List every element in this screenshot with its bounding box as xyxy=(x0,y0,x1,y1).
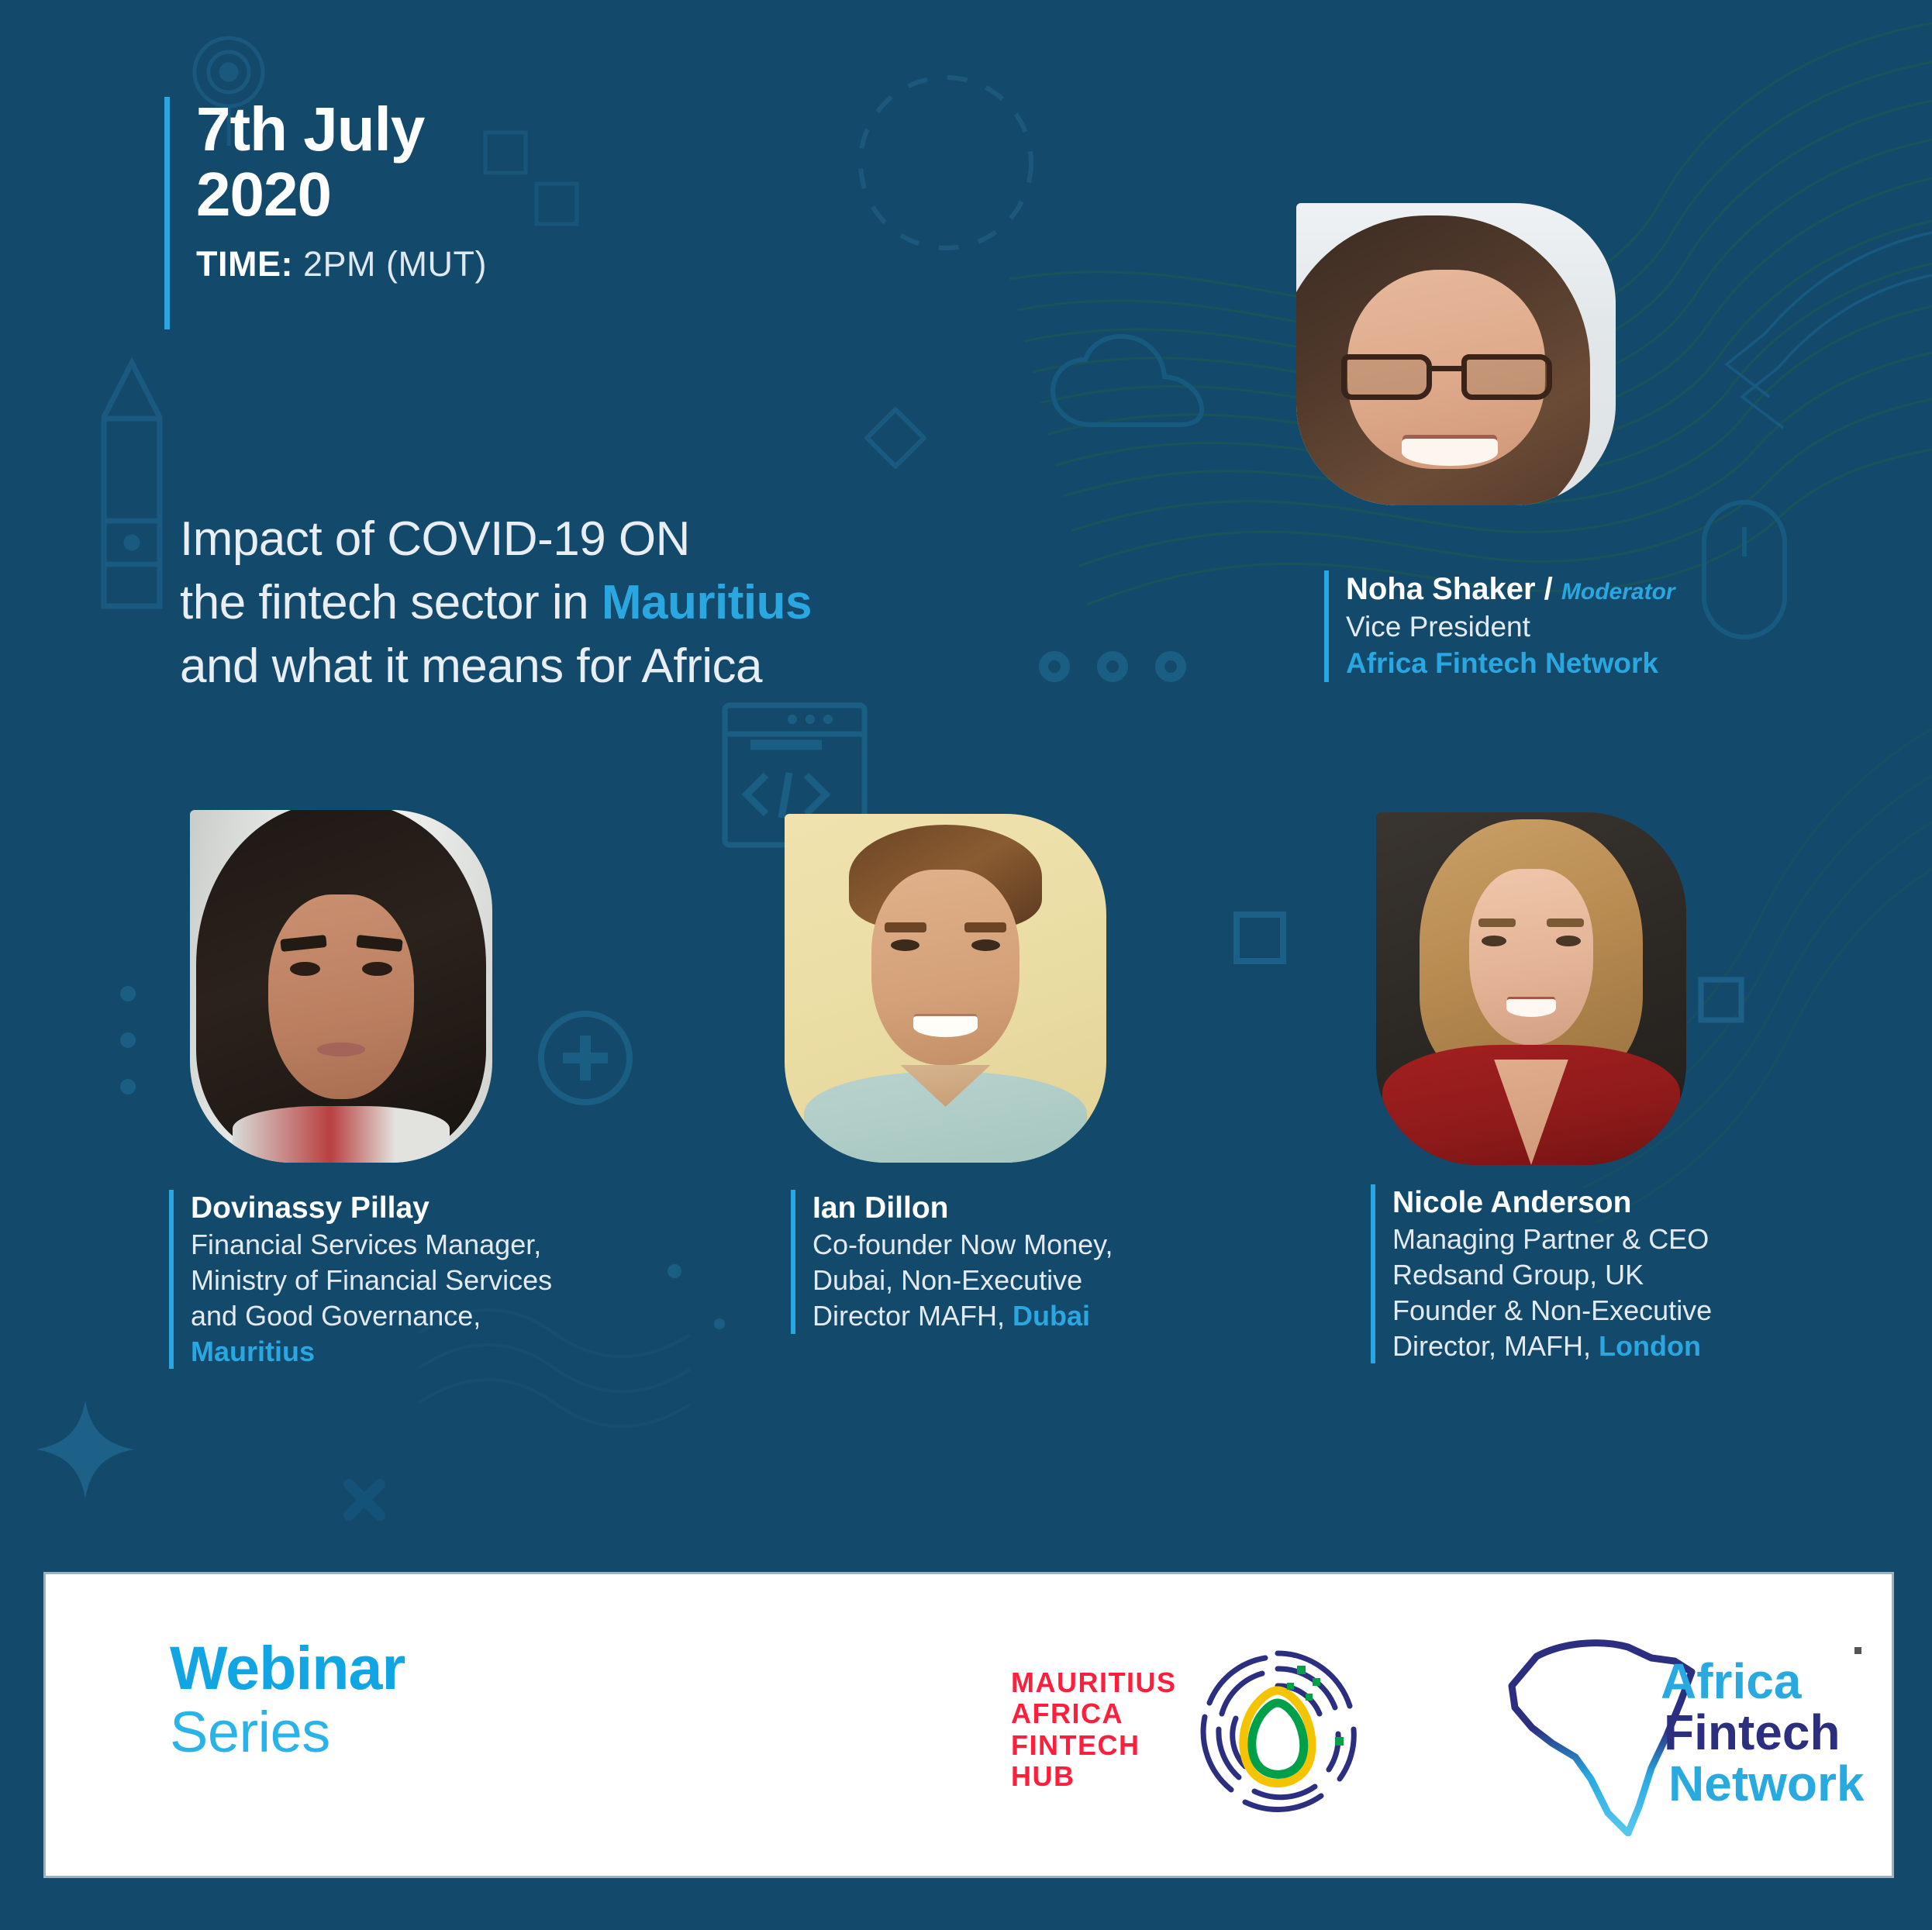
mafh-line-2: AFRICA xyxy=(1011,1698,1177,1729)
smile xyxy=(1506,999,1556,1017)
afn-line-1: Africa xyxy=(1661,1653,1802,1709)
afn-line-2: Fintech xyxy=(1664,1704,1841,1760)
speaker-role-line-2: Ministry of Financial Services xyxy=(191,1263,552,1298)
eye-left xyxy=(1482,936,1506,946)
smile xyxy=(1402,439,1498,466)
mafh-line-4: HUB xyxy=(1011,1761,1177,1792)
speaker-location: London xyxy=(1599,1330,1701,1362)
face xyxy=(1469,869,1593,1046)
portrait-ian-dillon xyxy=(785,814,1106,1163)
glasses-bridge xyxy=(1432,366,1461,371)
speaker-role-prefix: Director, MAFH, xyxy=(1392,1330,1599,1362)
avatar-ian-dillon xyxy=(785,814,1106,1163)
speaker-role-line-4: Director, MAFH, London xyxy=(1392,1329,1712,1364)
page-title: Impact of COVID-19 ON the fintech sector… xyxy=(180,508,812,698)
event-time-value: 2PM (MUT) xyxy=(303,244,487,284)
webinar-word: Webinar xyxy=(170,1635,405,1701)
brow-left xyxy=(885,922,926,933)
speaker-role-prefix: Director MAFH, xyxy=(812,1300,1013,1332)
moderator-info: Noha Shaker / Moderator Vice President A… xyxy=(1324,570,1675,682)
face xyxy=(268,894,413,1099)
speaker-role-line-3: Founder & Non-Executive xyxy=(1392,1293,1712,1329)
speaker-location: Dubai xyxy=(1013,1300,1090,1332)
eye-left xyxy=(290,962,320,976)
brow-right xyxy=(964,922,1006,933)
scarf xyxy=(233,1106,450,1163)
speaker-role-line-2: Dubai, Non-Executive xyxy=(812,1263,1113,1298)
brow-right xyxy=(1547,918,1584,928)
afn-line-3: Network xyxy=(1668,1756,1865,1811)
speaker-role-line-3: Director MAFH, Dubai xyxy=(812,1298,1113,1334)
speaker-role-line-1: Co-founder Now Money, xyxy=(812,1227,1113,1263)
speaker-name: Nicole Anderson xyxy=(1392,1184,1712,1222)
brow-left xyxy=(1478,918,1516,928)
moderator-organization: Africa Fintech Network xyxy=(1346,646,1675,682)
title-line-3: and what it means for Africa xyxy=(180,635,812,698)
speaker-location: Mauritius xyxy=(191,1334,552,1370)
mafh-logo-text: MAURITIUS AFRICA FINTECH HUB xyxy=(1011,1667,1177,1792)
webinar-series-label: Webinar Series xyxy=(170,1635,405,1765)
speaker-info-dovinassy-pillay: Dovinassy Pillay Financial Services Mana… xyxy=(169,1190,552,1369)
portrait-noha-shaker xyxy=(1296,203,1616,505)
mafh-emblem-icon xyxy=(1191,1642,1365,1817)
title-line-2-prefix: the fintech sector in xyxy=(180,576,602,629)
footer-bar: Webinar Series MAURITIUS AFRICA FINTECH … xyxy=(43,1572,1894,1878)
mauritius-africa-fintech-hub-logo: MAURITIUS AFRICA FINTECH HUB xyxy=(1011,1642,1365,1817)
speaker-role-line-1: Managing Partner & CEO xyxy=(1392,1222,1712,1257)
glasses-icon xyxy=(1341,354,1552,400)
mafh-line-1: MAURITIUS xyxy=(1011,1667,1177,1698)
moderator-role: Moderator xyxy=(1561,579,1675,605)
title-line-2: the fintech sector in Mauritius xyxy=(180,571,812,635)
series-word: Series xyxy=(170,1701,405,1765)
portrait-dovinassy-pillay xyxy=(190,810,492,1163)
moderator-name: Noha Shaker / xyxy=(1346,572,1553,606)
event-date-year: 2020 xyxy=(196,162,487,227)
avatar-nicole-anderson xyxy=(1376,812,1686,1165)
title-line-1: Impact of COVID-19 ON xyxy=(180,508,812,571)
speaker-name: Ian Dillon xyxy=(812,1190,1113,1227)
logo-dot xyxy=(1854,1647,1861,1654)
speaker-info-ian-dillon: Ian Dillon Co-founder Now Money, Dubai, … xyxy=(791,1190,1113,1334)
lens-left xyxy=(1341,354,1432,400)
speaker-role-line-1: Financial Services Manager, xyxy=(191,1227,552,1263)
moderator-title: Vice President xyxy=(1346,609,1675,646)
event-date-day: 7th July xyxy=(196,97,487,162)
eye-right xyxy=(362,962,392,976)
portrait-nicole-anderson xyxy=(1376,812,1686,1165)
mafh-line-3: FINTECH xyxy=(1011,1730,1177,1761)
speaker-name: Dovinassy Pillay xyxy=(191,1190,552,1227)
smile xyxy=(913,1016,978,1037)
event-date-block: 7th July 2020 TIME: 2PM (MUT) xyxy=(164,97,487,329)
moderator-name-line: Noha Shaker / Moderator xyxy=(1346,570,1675,609)
event-time-label: TIME: xyxy=(196,244,293,284)
lens-right xyxy=(1461,354,1552,400)
speaker-role-line-2: Redsand Group, UK xyxy=(1392,1257,1712,1293)
eye-right xyxy=(1556,936,1581,946)
title-highlight-mauritius: Mauritius xyxy=(602,576,812,629)
africa-fintech-network-logo: Africa Fintech Network xyxy=(1492,1627,1895,1836)
speaker-role-line-3: and Good Governance, xyxy=(191,1298,552,1334)
avatar-dovinassy-pillay xyxy=(190,810,492,1163)
speaker-info-nicole-anderson: Nicole Anderson Managing Partner & CEO R… xyxy=(1371,1184,1712,1363)
avatar-noha-shaker xyxy=(1296,203,1616,505)
event-time: TIME: 2PM (MUT) xyxy=(196,244,487,284)
